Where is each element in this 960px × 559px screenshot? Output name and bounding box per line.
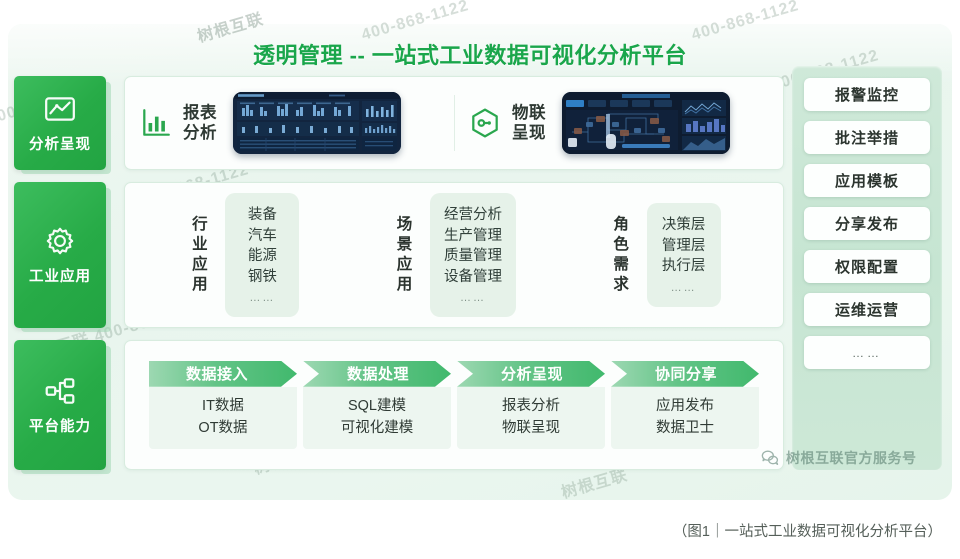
group-items[interactable]: 决策层 管理层 执行层 …… [647,203,721,306]
pipeline-step-body: 应用发布 数据卫士 [611,387,759,450]
pipeline-step-header: 数据接入 [149,361,297,387]
group-title-char: 场 [392,215,418,235]
list-item: SQL建模 [309,396,445,418]
group-title-char: 行 [187,215,213,235]
gear-icon [43,224,77,258]
list-item: 执行层 [661,256,707,277]
tab-label: 分析呈现 [29,133,91,154]
category-tabs: 分析呈现 工业应用 平台能力 [14,76,118,470]
feature-label: 报表 分析 [183,103,221,143]
more-indicator: …… [239,291,285,307]
content-column: 报表 分析 [124,76,784,470]
tab-label: 平台能力 [29,415,91,436]
pipeline-step-data-ingest[interactable]: 数据接入 IT数据 OT数据 [149,361,297,450]
sidebar-button-app-template[interactable]: 应用模板 [804,164,930,197]
group-title-char: 用 [392,275,418,295]
pipeline-step-header: 分析呈现 [457,361,605,387]
capability-sidebar: 报警监控 批注举措 应用模板 分享发布 权限配置 运维运营 …… [792,66,942,470]
platform-capability-row-card: 数据接入 IT数据 OT数据 数据处理 SQL建模 可视化建模 分析呈现 [124,340,784,470]
brand-text: 树根互联官方服务号 [786,448,917,468]
feature-label-line2: 分析 [183,123,221,143]
more-indicator: …… [661,281,707,297]
group-title-char: 色 [609,235,635,255]
list-item: 质量管理 [444,246,502,267]
sidebar-button-annotation-actions[interactable]: 批注举措 [804,121,930,154]
sidebar-item-analysis[interactable]: 分析呈现 [14,76,106,170]
bar-chart-icon [139,106,173,140]
page-title: 透明管理 -- 一站式工业数据可视化分析平台 [120,38,820,70]
poster-root: 400-868-1122 400-868-1122 400-868-1122 树… [0,0,960,559]
group-title: 行 业 应 用 [187,215,213,294]
sidebar-button-more[interactable]: …… [804,336,930,369]
brand-watermark: 树根互联官方服务号 [760,448,917,468]
list-item: 装备 [239,205,285,226]
pipeline-step-collaboration[interactable]: 协同分享 应用发布 数据卫士 [611,361,759,450]
group-title-char: 应 [392,255,418,275]
list-item: 数据卫士 [617,418,753,440]
pipeline-step-header: 数据处理 [303,361,451,387]
feature-label-line1: 报表 [183,103,221,123]
list-item: 可视化建模 [309,418,445,440]
iot-hexagon-icon [468,106,502,140]
feature-label: 物联 呈现 [512,103,550,143]
group-scenario: 场 景 应 用 经营分析 生产管理 质量管理 设备管理 …… [392,193,516,317]
list-item: 报表分析 [463,396,599,418]
industrial-app-row-card: 行 业 应 用 装备 汽车 能源 钢铁 …… 场 [124,182,784,328]
chart-image-icon [43,92,77,126]
sidebar-button-share-publish[interactable]: 分享发布 [804,207,930,240]
sidebar-item-industrial-app[interactable]: 工业应用 [14,182,106,328]
report-dashboard-thumbnail[interactable] [233,92,401,154]
network-nodes-icon [43,374,77,408]
feature-label-line1: 物联 [512,103,550,123]
pipeline-step-body: 报表分析 物联呈现 [457,387,605,450]
group-title-char: 用 [187,275,213,295]
group-title: 场 景 应 用 [392,215,418,294]
list-item: 设备管理 [444,267,502,288]
list-item: 应用发布 [617,396,753,418]
list-item: IT数据 [155,396,291,418]
sidebar-button-operations[interactable]: 运维运营 [804,293,930,326]
group-title-char: 需 [609,255,635,275]
sidebar-button-permission-config[interactable]: 权限配置 [804,250,930,283]
list-item: 管理层 [661,236,707,257]
pipeline-step-header: 协同分享 [611,361,759,387]
group-title-char: 业 [187,235,213,255]
sidebar-button-alarm-monitoring[interactable]: 报警监控 [804,78,930,111]
group-title-char: 景 [392,235,418,255]
feature-report-analysis[interactable]: 报表 分析 [125,77,454,169]
list-item: 物联呈现 [463,418,599,440]
group-title: 角 色 需 求 [609,215,635,294]
tab-label: 工业应用 [29,265,91,286]
list-item: 能源 [239,246,285,267]
list-item: 汽车 [239,226,285,247]
analysis-row-card: 报表 分析 [124,76,784,170]
group-role: 角 色 需 求 决策层 管理层 执行层 …… [609,203,721,306]
feature-iot-presentation[interactable]: 物联 呈现 [454,77,783,169]
group-title-char: 求 [609,275,635,295]
pipeline-step-data-processing[interactable]: 数据处理 SQL建模 可视化建模 [303,361,451,450]
list-item: 决策层 [661,215,707,236]
group-title-char: 应 [187,255,213,275]
group-items[interactable]: 经营分析 生产管理 质量管理 设备管理 …… [430,193,516,317]
group-industry: 行 业 应 用 装备 汽车 能源 钢铁 …… [187,193,299,317]
figure-caption: （图1｜一站式工业数据可视化分析平台） [673,520,942,541]
list-item: OT数据 [155,418,291,440]
pipeline-step-analysis[interactable]: 分析呈现 报表分析 物联呈现 [457,361,605,450]
list-item: 经营分析 [444,205,502,226]
list-item: 生产管理 [444,226,502,247]
wechat-logo-icon [760,448,780,468]
feature-label-line2: 呈现 [512,123,550,143]
pipeline-step-body: IT数据 OT数据 [149,387,297,450]
group-items[interactable]: 装备 汽车 能源 钢铁 …… [225,193,299,317]
group-title-char: 角 [609,215,635,235]
more-indicator: …… [444,291,502,307]
list-item: 钢铁 [239,267,285,288]
iot-dashboard-thumbnail[interactable] [562,92,730,154]
pipeline-step-body: SQL建模 可视化建模 [303,387,451,450]
sidebar-item-platform-capability[interactable]: 平台能力 [14,340,106,470]
